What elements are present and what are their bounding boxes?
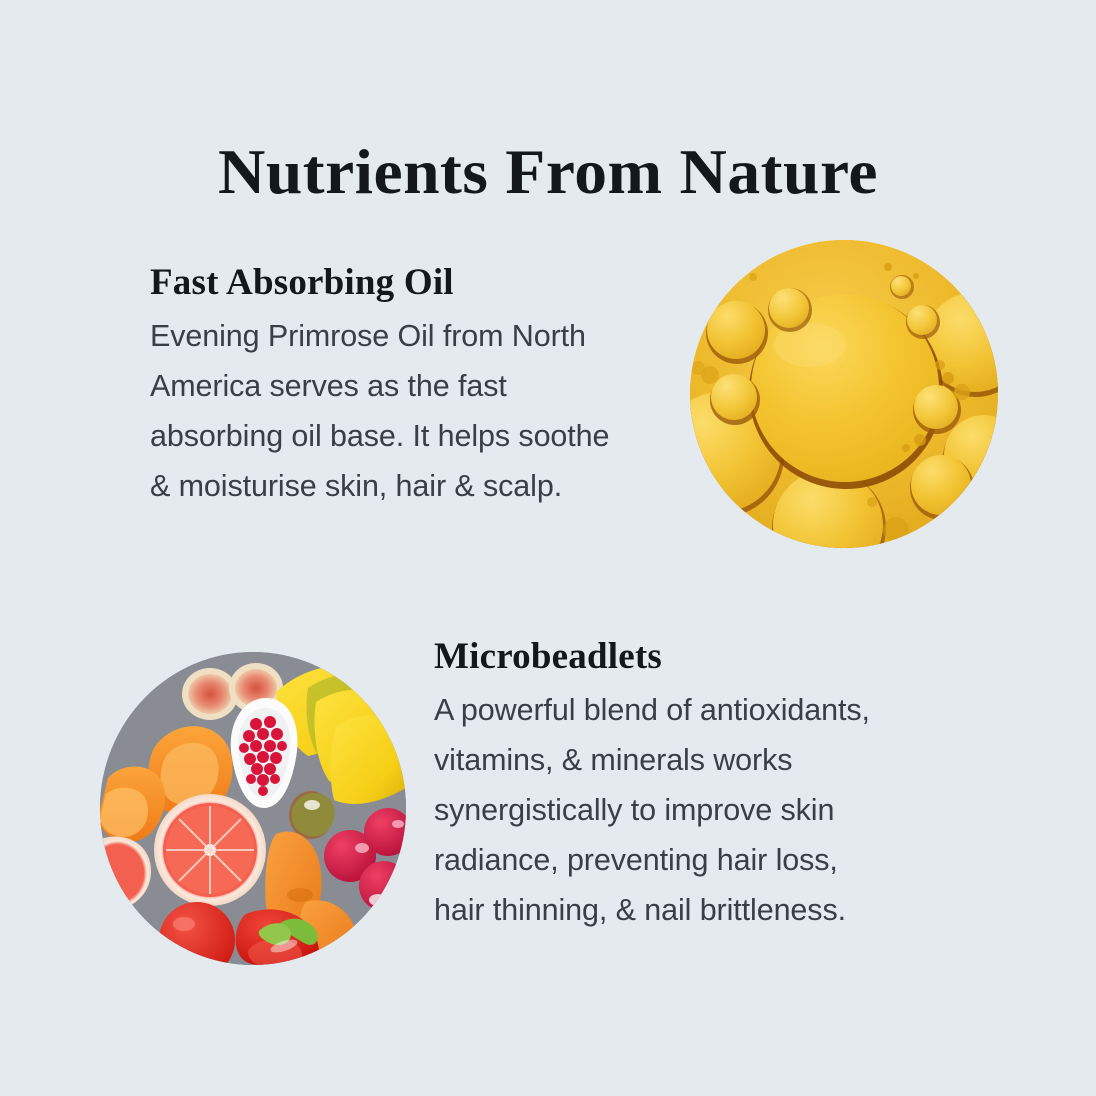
feature-body-line: & moisturise skin, hair & scalp.: [150, 461, 698, 511]
feature-heading-microbeadlets: Microbeadlets: [434, 636, 974, 679]
feature-heading-fast-absorbing-oil: Fast Absorbing Oil: [150, 262, 698, 305]
feature-body-line: Evening Primrose Oil from North: [150, 311, 698, 361]
feature-block-microbeadlets: Microbeadlets A powerful blend of antiox…: [434, 636, 974, 935]
feature-body-line: America serves as the fast: [150, 361, 698, 411]
feature-body-line: A powerful blend of antioxidants,: [434, 685, 974, 735]
feature-block-fast-absorbing-oil: Fast Absorbing Oil Evening Primrose Oil …: [150, 262, 698, 511]
feature-body-line: hair thinning, & nail brittleness.: [434, 885, 974, 935]
feature-body-line: vitamins, & minerals works: [434, 735, 974, 785]
fruits-and-vegetables-photo: [100, 652, 406, 965]
page-title: Nutrients From Nature: [0, 138, 1096, 206]
feature-body-line: radiance, preventing hair loss,: [434, 835, 974, 885]
golden-oil-bubbles-photo: [690, 240, 998, 548]
feature-body-fast-absorbing-oil: Evening Primrose Oil from North America …: [150, 311, 698, 511]
nutrients-infographic-page: Nutrients From Nature Fast Absorbing Oil…: [0, 0, 1096, 1096]
feature-body-line: synergistically to improve skin: [434, 785, 974, 835]
feature-body-line: absorbing oil base. It helps soothe: [150, 411, 698, 461]
feature-body-microbeadlets: A powerful blend of antioxidants, vitami…: [434, 685, 974, 935]
